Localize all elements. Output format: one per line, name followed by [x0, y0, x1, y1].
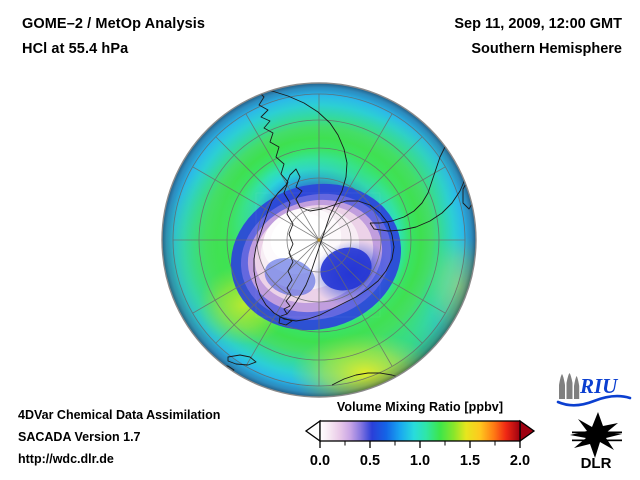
- footer-left: 4DVar Chemical Data Assimilation SACADA …: [18, 404, 220, 470]
- region-label: Southern Hemisphere: [454, 37, 622, 62]
- colorbar-extend-high: [520, 421, 534, 441]
- species-subtitle: HCl at 55.4 hPa: [22, 37, 205, 62]
- colorbar-tick-label: 1.5: [460, 453, 480, 469]
- dlr-logo: DLR: [562, 410, 630, 472]
- colorbar-tick-label: 0.0: [310, 453, 330, 469]
- colorbar-extend-low: [306, 421, 320, 441]
- riu-logo: RIU: [556, 373, 632, 407]
- instrument-title: GOME–2 / MetOp Analysis: [22, 12, 205, 37]
- colorbar-title: Volume Mixing Ratio [ppbv]: [300, 400, 540, 414]
- globe-map: [160, 81, 478, 399]
- orthographic-projection: [160, 81, 478, 399]
- datetime-label: Sep 11, 2009, 12:00 GMT: [454, 12, 622, 37]
- header-left: GOME–2 / MetOp Analysis HCl at 55.4 hPa: [22, 12, 205, 62]
- dlr-wordmark: DLR: [581, 455, 612, 472]
- riu-wordmark: RIU: [579, 374, 619, 398]
- colorbar-tick-label: 1.0: [410, 453, 430, 469]
- limb-shading: [162, 83, 476, 397]
- colorbar: Volume Mixing Ratio [ppbv] 0.0 0.5 1.0: [300, 400, 540, 474]
- dlr-mark-icon: [570, 412, 622, 458]
- website-link[interactable]: http://wdc.dlr.de: [18, 448, 220, 470]
- coast-australia-tasmania: [390, 389, 400, 397]
- colorbar-tick-label: 0.5: [360, 453, 380, 469]
- colorbar-scale: 0.0 0.5 1.0 1.5 2.0: [304, 418, 536, 474]
- header-right: Sep 11, 2009, 12:00 GMT Southern Hemisph…: [454, 12, 622, 62]
- method-label: 4DVar Chemical Data Assimilation: [18, 404, 220, 426]
- riu-towers-icon: [559, 373, 579, 399]
- colorbar-gradient: [320, 421, 520, 441]
- colorbar-tick-labels: 0.0 0.5 1.0 1.5 2.0: [310, 453, 530, 469]
- colorbar-ticks: [320, 441, 520, 448]
- colorbar-tick-label: 2.0: [510, 453, 530, 469]
- version-label: SACADA Version 1.7: [18, 426, 220, 448]
